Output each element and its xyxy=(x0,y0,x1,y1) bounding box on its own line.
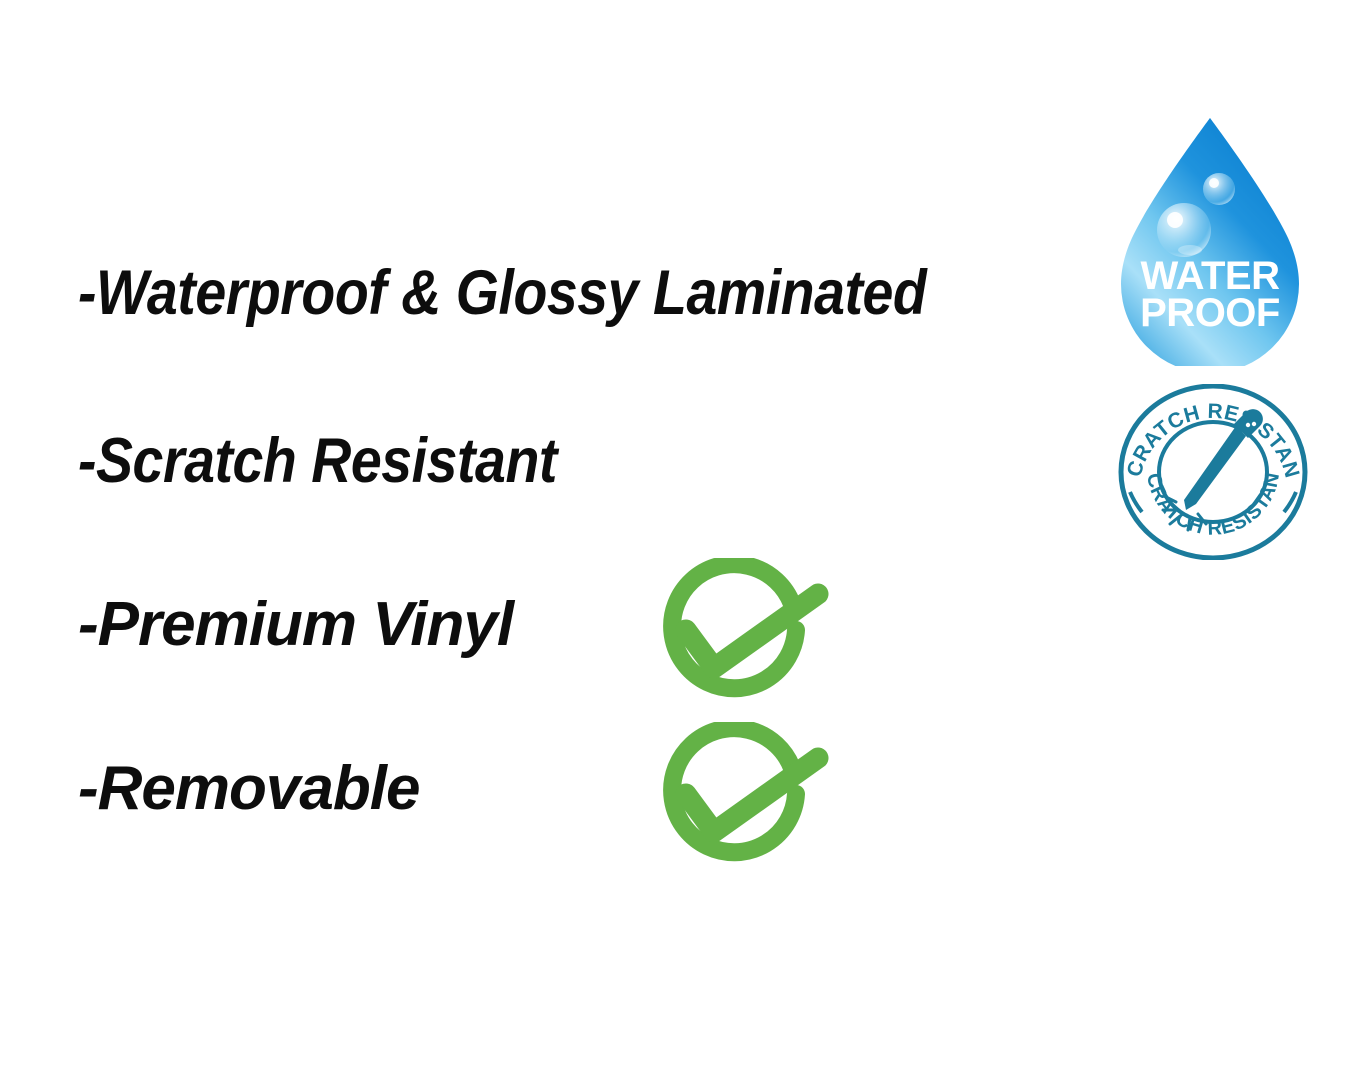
check-circle-icon-vinyl xyxy=(638,558,834,710)
check-circle-icon-removable xyxy=(638,722,834,874)
feature-text-waterproof: -Waterproof & Glossy Laminated xyxy=(78,262,926,325)
knife-rivet-1 xyxy=(1246,423,1250,427)
scratch-resistant-seal: SCRATCH RESISTANT SCRATCH RESISTANT xyxy=(1118,384,1308,560)
waterproof-label-line2: PROOF xyxy=(1140,291,1280,335)
feature-text-scratch-resistant: -Scratch Resistant xyxy=(78,430,557,493)
knife-rivet-2 xyxy=(1252,422,1256,426)
water-bubble-small-highlight xyxy=(1209,178,1219,188)
knife-blade xyxy=(1184,426,1246,510)
water-bubble-large-highlight xyxy=(1167,212,1183,228)
water-bubble-small xyxy=(1203,173,1235,205)
feature-text-removable: -Removable xyxy=(78,758,419,820)
waterproof-droplet-badge: WATER PROOF xyxy=(1098,104,1322,366)
feature-text-premium-vinyl: -Premium Vinyl xyxy=(78,594,513,656)
promo-feature-panel: -Waterproof & Glossy Laminated -Scratch … xyxy=(0,0,1359,1080)
